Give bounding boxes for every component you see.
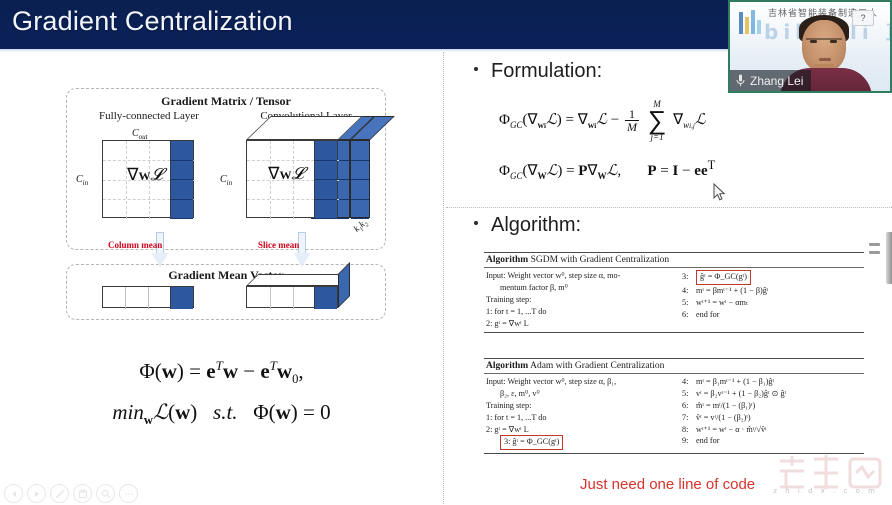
- algo-line-text: mᵗ = βmᵗ⁻¹ + (1 − β)ĝᵗ: [696, 286, 768, 295]
- bullet-algorithm: Algorithm:: [474, 214, 581, 237]
- triangle-left-icon: [10, 490, 18, 498]
- bullet-formulation-label: Formulation:: [491, 60, 602, 83]
- algo-line: 6: m̂ᵗ = mᵗ/(1 − (β₁)ᵗ): [682, 400, 862, 412]
- algorithm-block-adam: Algorithm Adam with Gradient Centralizat…: [484, 358, 864, 454]
- algo-line: 4: mᵗ = βmᵗ⁻¹ + (1 − β)ĝᵗ: [682, 285, 862, 297]
- algo-line-number: 7:: [682, 412, 694, 424]
- slice-mean-label: Slice mean: [258, 240, 299, 250]
- algo-line-number: 4:: [682, 285, 694, 297]
- panel-handle-grip-icon: [869, 243, 880, 260]
- bullet-dot-icon: [474, 221, 478, 225]
- algo-bottom-rule: [484, 332, 864, 333]
- algo-sgdm-heading-rest: SGDM with Gradient Centralization: [531, 255, 670, 265]
- presentation-slide-viewer: Gradient Centralization 吉林省智能装备制造工人 bili…: [0, 0, 892, 505]
- constraint-equation-2: minwℒ(w) s.t. Φ(w) = 0: [0, 400, 443, 428]
- bullet-formulation: Formulation:: [474, 60, 602, 83]
- ellipsis-icon: [124, 492, 134, 496]
- algo-adam-heading-bold: Algorithm: [486, 361, 528, 371]
- algo-sgdm-heading: Algorithm SGDM with Gradient Centralizat…: [484, 253, 864, 267]
- microphone-icon: [736, 74, 745, 87]
- webcam-person-eye-left: [810, 40, 817, 43]
- algo-line: β₂, ε, m⁰, v⁰: [486, 388, 672, 400]
- panel-resize-handle[interactable]: [886, 232, 892, 284]
- algo-line: 8: wᵗ⁺¹ = wᵗ − α · m̂ᵗ/√v̂ᵗ: [682, 424, 862, 436]
- equation-2-render: minwℒ(w) s.t. Φ(w) = 0: [112, 400, 330, 424]
- conv-slab-3: [350, 140, 370, 218]
- equation-1-render: Φ(w) = eTw − eTw0,: [139, 359, 303, 383]
- bullet-algorithm-label: Algorithm:: [491, 214, 581, 237]
- mouse-cursor: [713, 183, 726, 202]
- algorithm-block-sgdm: Algorithm SGDM with Gradient Centralizat…: [484, 252, 864, 333]
- webcam-name-bar: Zhang Lei: [730, 70, 811, 91]
- webcam-badge: ?: [852, 10, 874, 26]
- fc-gradient-symbol: ∇W𝓛: [111, 165, 179, 185]
- conv-mean-vector-highlight: [314, 287, 337, 309]
- algo-sgdm-heading-bold: Algorithm: [486, 255, 528, 265]
- algo-line: 5: vᵗ = β₂vᵗ⁻¹ + (1 − β₂)ĝᵗ ⊙ ĝᵗ: [682, 388, 862, 400]
- previous-slide-button[interactable]: [4, 484, 23, 503]
- algo-highlight-box: 3: ĝᵗ = Φ_GC(gᵗ): [500, 435, 563, 450]
- horizontal-divider: [446, 207, 892, 208]
- figure-subtitle-fc: Fully-connected Layer: [74, 110, 224, 122]
- conv-gradient-symbol: ∇W𝓛: [252, 164, 320, 184]
- algo-line-text: wᵗ⁺¹ = wᵗ − α · m̂ᵗ/√v̂ᵗ: [696, 425, 767, 434]
- footer-note: Just need one line of code: [580, 476, 755, 493]
- annotate-button[interactable]: [50, 484, 69, 503]
- algo-sgdm-body: Input: Weight vector w⁰, step size α, mo…: [484, 268, 864, 332]
- label-cin-fc: Cin: [76, 174, 88, 187]
- algo-line-number: 8:: [682, 424, 694, 436]
- magnifier-icon: [101, 489, 111, 499]
- algo-line-text: end for: [696, 310, 719, 319]
- broadcast-logo-icon: [736, 8, 762, 38]
- watermark-domain: z h i d x . c o m: [773, 487, 878, 495]
- formulation-eq1-render: ΦGC(∇wiℒ) = ∇wiℒ − 1 M M ∑ j=1 ∇wi,jℒ: [499, 112, 706, 128]
- algo-adam-left-column: Input: Weight vector w⁰, step size α, β₁…: [486, 376, 672, 450]
- algo-adam-body: Input: Weight vector w⁰, step size α, β₁…: [484, 374, 864, 453]
- pen-icon: [55, 489, 65, 499]
- formulation-equation-1: ΦGC(∇wiℒ) = ∇wiℒ − 1 M M ∑ j=1 ∇wi,jℒ: [499, 100, 706, 142]
- next-slide-button[interactable]: [27, 484, 46, 503]
- conv-mean-vector: [246, 286, 338, 308]
- algo-line-number: 6:: [682, 309, 694, 321]
- algo-bottom-rule: [484, 453, 864, 454]
- algo-line: 4: mᵗ = β₁mᵗ⁻¹ + (1 − β₁)ĝᵗ: [682, 376, 862, 388]
- gradient-matrix-figure: Gradient Matrix / Tensor Fully-connected…: [66, 88, 386, 320]
- figure-title: Gradient Matrix / Tensor: [66, 94, 386, 109]
- algo-line: 2: gᵗ = ∇wᵗ L: [486, 424, 672, 436]
- screenshot-button[interactable]: [73, 484, 92, 503]
- algo-line: 2: gᵗ = ∇wᵗ L: [486, 318, 672, 330]
- algo-highlight-box: ĝᵗ = Φ_GC(gᵗ): [696, 270, 751, 285]
- algo-line: 7: v̂ᵗ = vᵗ/(1 − (β₂)ᵗ): [682, 412, 862, 424]
- algo-line: 1: for t = 1, ...T do: [486, 306, 672, 318]
- slice-mean-arrow: [294, 232, 310, 268]
- algo-line: mentum factor β, m⁰: [486, 282, 672, 294]
- constraint-equation-1: Φ(w) = eTw − eTw0,: [0, 358, 443, 387]
- algo-adam-heading: Algorithm Adam with Gradient Centralizat…: [484, 359, 864, 373]
- column-mean-arrow: [152, 232, 168, 268]
- algo-line: Training step:: [486, 294, 672, 306]
- bullet-dot-icon: [474, 67, 478, 71]
- label-cin-conv: Cin: [220, 174, 232, 187]
- more-button[interactable]: [119, 484, 138, 503]
- fc-mean-vector-highlight: [170, 287, 193, 309]
- algo-line: 1: for t = 1, ...T do: [486, 412, 672, 424]
- zoom-button[interactable]: [96, 484, 115, 503]
- algo-line: Input: Weight vector w⁰, step size α, mo…: [486, 270, 672, 282]
- algo-line-text: m̂ᵗ = mᵗ/(1 − (β₁)ᵗ): [696, 401, 755, 410]
- algo-line-text: wᵗ⁺¹ = wᵗ − αmₜ: [696, 298, 748, 307]
- camera-icon: [78, 489, 88, 499]
- webcam-person-eye-right: [830, 40, 837, 43]
- algo-line: 3: ĝᵗ = Φ_GC(gᵗ): [682, 270, 862, 285]
- vertical-divider: [443, 52, 444, 504]
- webcam-person-mouth: [819, 58, 831, 61]
- triangle-right-icon: [33, 490, 41, 498]
- algo-line-text: mᵗ = β₁mᵗ⁻¹ + (1 − β₁)ĝᵗ: [696, 377, 774, 386]
- algo-line: 5: wᵗ⁺¹ = wᵗ − αmₜ: [682, 297, 862, 309]
- fraction-one-over-m: 1 M: [625, 108, 639, 133]
- conv-mean-vector-top: [246, 274, 350, 286]
- column-mean-label: Column mean: [108, 240, 162, 250]
- formulation-equation-2: ΦGC(∇Wℒ) = P∇Wℒ, P = I − eeT: [499, 158, 715, 181]
- formulation-eq2-render: ΦGC(∇Wℒ) = P∇Wℒ, P = I − eeT: [499, 163, 715, 179]
- algo-adam-right-column: 4: mᵗ = β₁mᵗ⁻¹ + (1 − β₁)ĝᵗ 5: vᵗ = β₂vᵗ…: [682, 376, 862, 450]
- algo-line: Input: Weight vector w⁰, step size α, β₁…: [486, 376, 672, 388]
- algo-line-number: 6:: [682, 400, 694, 412]
- algo-adam-heading-rest: Adam with Gradient Centralization: [530, 361, 664, 371]
- algo-line-number: 9:: [682, 435, 694, 447]
- algo-line-text: vᵗ = β₂vᵗ⁻¹ + (1 − β₂)ĝᵗ ⊙ ĝᵗ: [696, 389, 786, 398]
- algo-sgdm-right-column: 3: ĝᵗ = Φ_GC(gᵗ) 4: mᵗ = βmᵗ⁻¹ + (1 − β)…: [682, 270, 862, 329]
- webcam-overlay[interactable]: 吉林省智能装备制造工人 bilibili 直播 ? Zhang Lei: [728, 0, 892, 93]
- algo-line-number: 4:: [682, 376, 694, 388]
- algo-line-text: v̂ᵗ = vᵗ/(1 − (β₂)ᵗ): [696, 413, 751, 422]
- algo-line-text: end for: [696, 436, 719, 445]
- algo-line-number: 5:: [682, 297, 694, 309]
- algo-sgdm-left-column: Input: Weight vector w⁰, step size α, mo…: [486, 270, 672, 329]
- page-title: Gradient Centralization: [12, 6, 293, 37]
- algo-line: 6: end for: [682, 309, 862, 321]
- algo-line-number: 5:: [682, 388, 694, 400]
- fc-gradient-matrix: ∇W𝓛: [102, 140, 194, 218]
- algo-line: 9: end for: [682, 435, 862, 447]
- webcam-speaker-name: Zhang Lei: [750, 74, 803, 88]
- algo-line-number: 3:: [682, 271, 694, 283]
- algo-line: Training step:: [486, 400, 672, 412]
- slide-toolbar: [4, 484, 138, 503]
- algo-line: 3: ĝᵗ = Φ_GC(gᵗ): [486, 435, 672, 450]
- summation-symbol: M ∑ j=1: [648, 100, 667, 142]
- fc-mean-vector: [102, 286, 194, 308]
